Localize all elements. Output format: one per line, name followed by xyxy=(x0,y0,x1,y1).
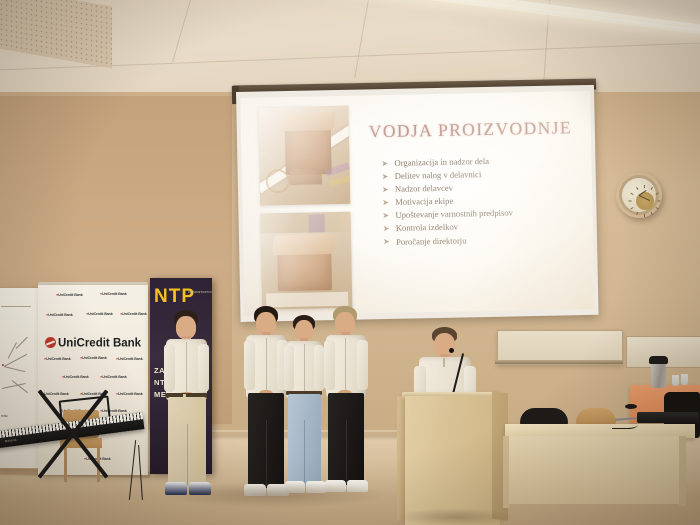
student-3-arm-left xyxy=(284,345,294,391)
slide-photo-leather-cube-bottom xyxy=(260,212,352,310)
bullet-text: Kontrola izdelkov xyxy=(396,222,458,233)
desk-leg-right xyxy=(679,436,686,506)
presentation-photo-scene: VODJA PROIZVODNJE ➤Organizacija in nadzo… xyxy=(0,0,700,525)
piano-brand-label: Roland xyxy=(5,438,17,444)
unicredit-logo-icon xyxy=(45,337,56,348)
coffee-thermos xyxy=(651,362,666,388)
water-glass xyxy=(672,375,679,386)
student-4-leg-split xyxy=(346,420,347,484)
bullet-arrow-icon: ➤ xyxy=(381,156,388,169)
unicredit-mini-logo: ●UniCredit Bank xyxy=(86,312,113,316)
podium-shadow xyxy=(395,508,515,525)
unicredit-mini-logo: ●UniCredit Bank xyxy=(100,375,127,379)
water-glass xyxy=(681,374,688,385)
bullet-arrow-icon: ➤ xyxy=(382,170,389,183)
student-1-leg-split xyxy=(187,424,188,486)
unicredit-mini-logo: ●UniCredit Bank xyxy=(120,312,147,316)
bullet-text: Poročanje direktorju xyxy=(396,235,467,246)
lecturer-desk-front xyxy=(505,436,683,504)
bullet-arrow-icon: ➤ xyxy=(382,196,389,209)
bullet-arrow-icon: ➤ xyxy=(383,235,390,248)
student-3-placket xyxy=(304,344,305,396)
bullet-text: Motivacija ekipe xyxy=(395,196,453,207)
slide-photo-leather-cube-top xyxy=(258,106,350,206)
bullet-text: Nadzor delavcev xyxy=(395,183,453,194)
student-4-placket xyxy=(345,338,346,395)
desk-leg-left xyxy=(503,436,509,508)
bullet-text: Delitev nalog v delavnici xyxy=(395,169,482,181)
banner-left-text: redu. xyxy=(1,414,8,418)
bullet-text: Upoštevanje varnostnih predpisov xyxy=(395,208,513,220)
student-3-arm-right xyxy=(314,345,324,391)
student-3-leg-split xyxy=(304,420,305,484)
floor-shadow xyxy=(160,482,390,508)
podium-microphone-head xyxy=(449,348,454,353)
whiteboard-rail xyxy=(495,360,623,364)
wall-clock xyxy=(616,172,662,218)
unicredit-mini-logo: ●UniCredit Bank xyxy=(56,293,83,297)
bullet-arrow-icon: ➤ xyxy=(382,209,389,222)
bullet-text: Organizacija in nadzor dela xyxy=(394,156,489,168)
presentation-slide: VODJA PROIZVODNJE ➤Organizacija in nadzo… xyxy=(240,91,594,316)
student-1-placket xyxy=(186,342,187,398)
unicredit-wordmark: UniCredit Bank xyxy=(45,337,145,350)
unicredit-mini-logo: ●UniCredit Bank xyxy=(80,356,107,360)
ntp-subtitle: ZA PODJETNISTVO xyxy=(188,291,212,294)
student-4-arm-left xyxy=(324,340,335,390)
unicredit-mini-logo: ●UniCredit Bank xyxy=(44,357,71,361)
wooden-chair xyxy=(576,408,616,425)
unicredit-mini-logo: ●UniCredit Bank xyxy=(46,313,73,317)
slide-title: VODJA PROIZVODNJE xyxy=(369,117,581,142)
unicredit-mini-logo: ●UniCredit Bank xyxy=(116,392,143,396)
thermos-lid xyxy=(649,356,668,364)
student-1-arm-right xyxy=(198,344,209,392)
clock-face xyxy=(622,178,656,212)
podium xyxy=(405,396,500,525)
unicredit-mini-logo: ●UniCredit Bank xyxy=(100,292,127,296)
desk-keyboard xyxy=(637,412,699,423)
projector-screen: VODJA PROIZVODNJE ➤Organizacija in nadzo… xyxy=(236,85,599,322)
desk-cable xyxy=(612,418,638,429)
presenter-polo-placket xyxy=(443,358,445,367)
student-4-arm-right xyxy=(357,340,368,390)
student-2-arm-left xyxy=(244,340,255,390)
bullet-arrow-icon: ➤ xyxy=(382,183,389,196)
desk-microphone xyxy=(625,404,637,409)
unicredit-mini-logo: ●UniCredit Bank xyxy=(62,375,89,379)
student-1-arm-left xyxy=(164,344,175,392)
bullet-arrow-icon: ➤ xyxy=(383,222,390,235)
student-2-leg-split xyxy=(266,420,267,487)
chair-leg xyxy=(64,446,67,482)
slide-bullet-list: ➤Organizacija in nadzor dela ➤Delitev na… xyxy=(381,153,588,249)
ntp-logo: NTP xyxy=(154,286,195,308)
unicredit-mini-logo: ●UniCredit Bank xyxy=(116,357,143,361)
student-2-placket xyxy=(266,338,267,396)
slide-bullet-item: ➤Poročanje direktorju xyxy=(383,232,588,249)
